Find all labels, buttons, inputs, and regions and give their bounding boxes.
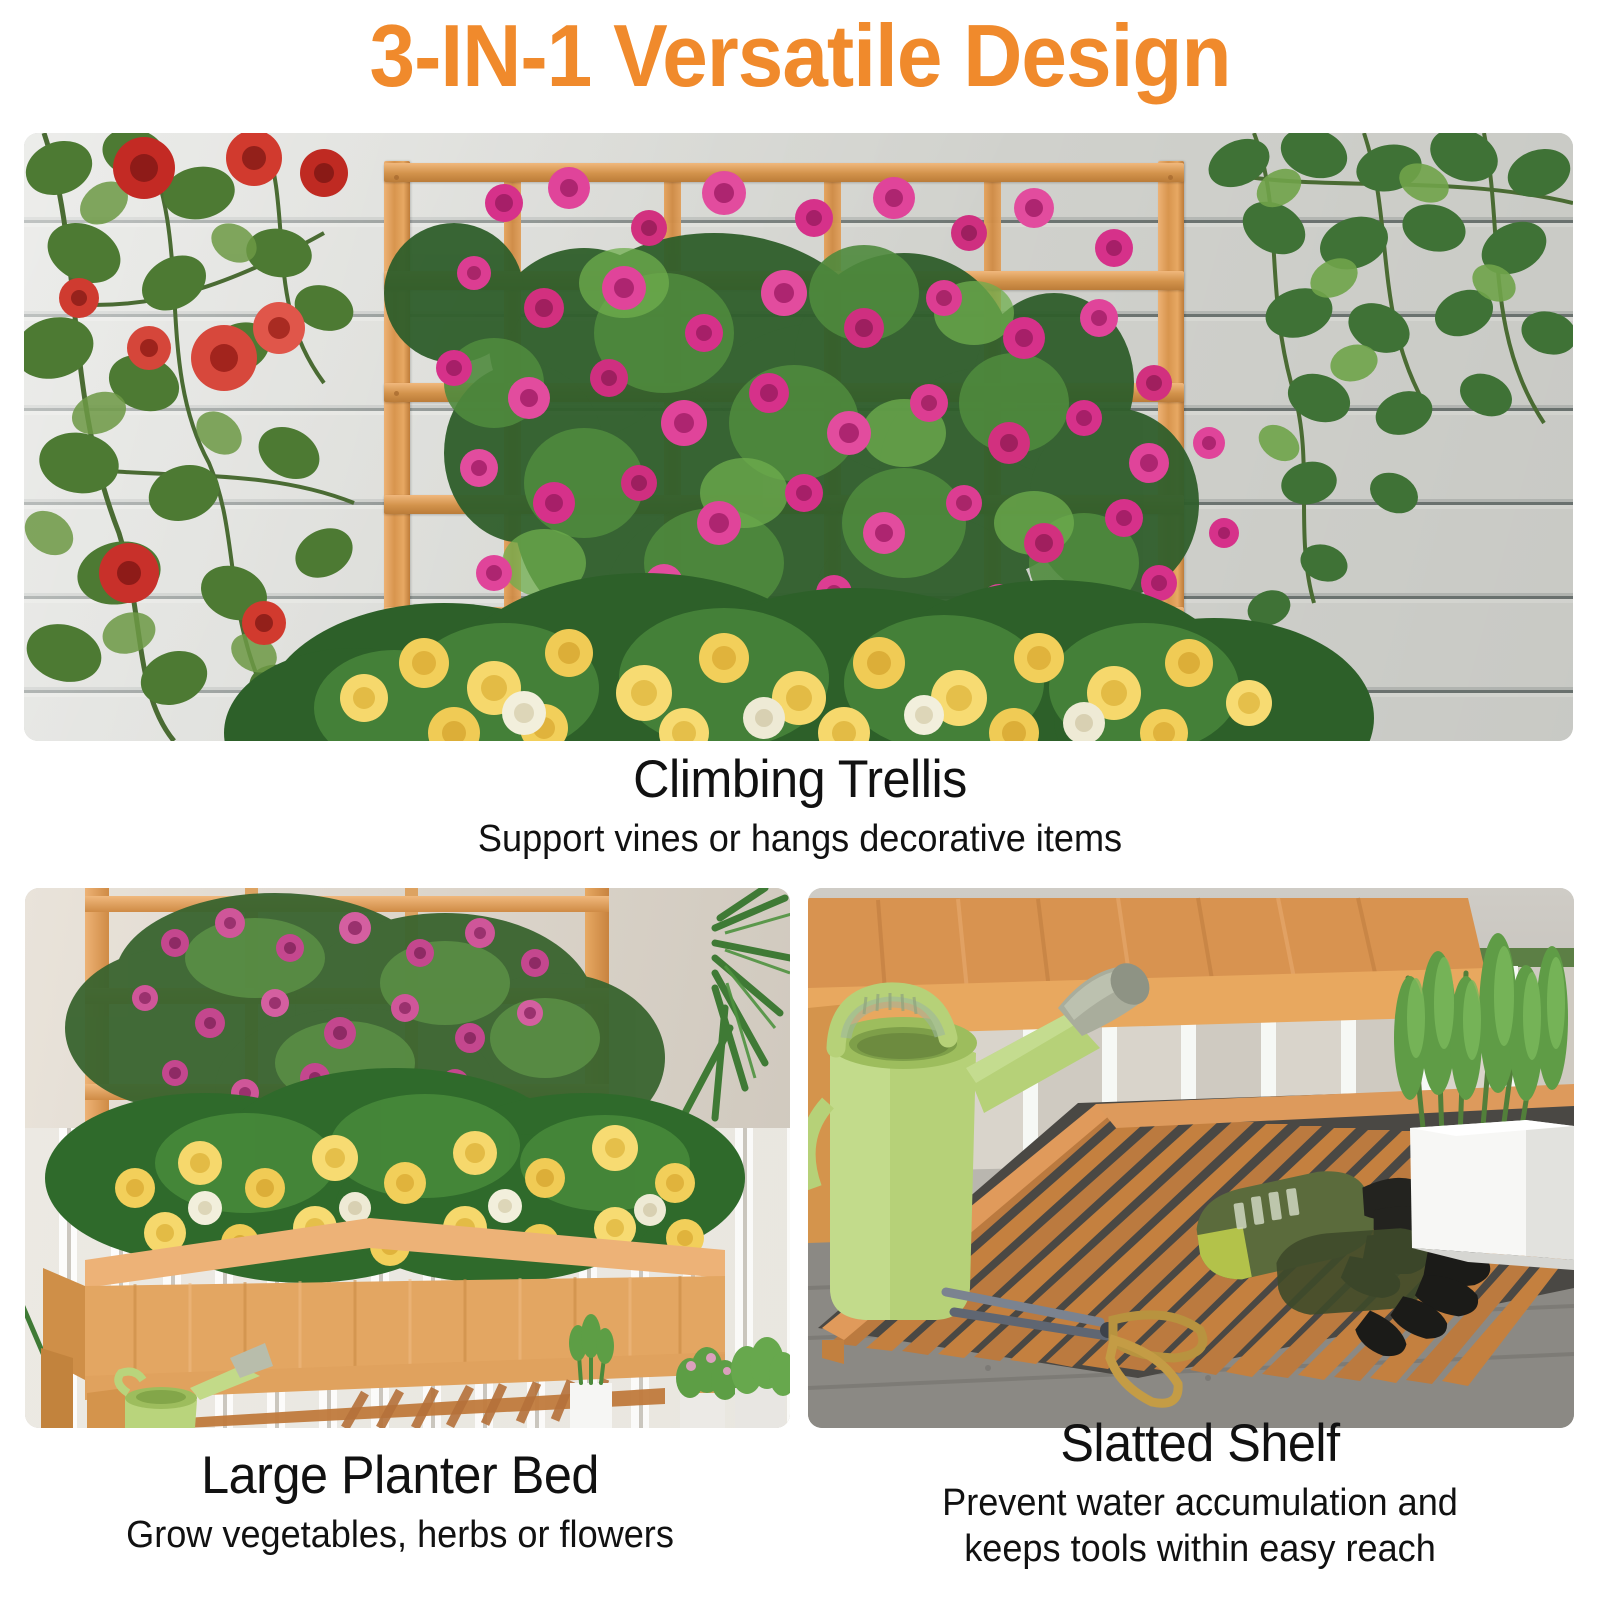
- planter-caption-title: Large Planter Bed: [20, 1448, 780, 1504]
- potted-rosemary: [808, 888, 1574, 1428]
- shelf-caption: Slatted Shelf Prevent water accumulation…: [800, 1416, 1600, 1572]
- infographic-page: 3-IN-1 Versatile Design: [0, 0, 1600, 1600]
- planter-lower-items: [25, 888, 790, 1428]
- hero-caption-title: Climbing Trellis: [40, 752, 1560, 808]
- shelf-caption-subtitle-line2: keeps tools within easy reach: [820, 1526, 1580, 1572]
- header: 3-IN-1 Versatile Design: [0, 8, 1600, 103]
- page-title: 3-IN-1 Versatile Design: [56, 8, 1544, 103]
- yellow-rose-bed: [24, 133, 1573, 741]
- shelf-caption-subtitle-line1: Prevent water accumulation and: [820, 1480, 1580, 1526]
- hero-caption: Climbing Trellis Support vines or hangs …: [0, 752, 1600, 862]
- hero-caption-subtitle: Support vines or hangs decorative items: [40, 816, 1560, 862]
- planter-caption-subtitle: Grow vegetables, herbs or flowers: [20, 1512, 780, 1558]
- large-planter-bed-photo: [25, 888, 790, 1428]
- climbing-trellis-photo: [24, 133, 1573, 741]
- shelf-caption-title: Slatted Shelf: [820, 1416, 1580, 1472]
- slatted-shelf-photo: [808, 888, 1574, 1428]
- planter-caption: Large Planter Bed Grow vegetables, herbs…: [0, 1448, 800, 1558]
